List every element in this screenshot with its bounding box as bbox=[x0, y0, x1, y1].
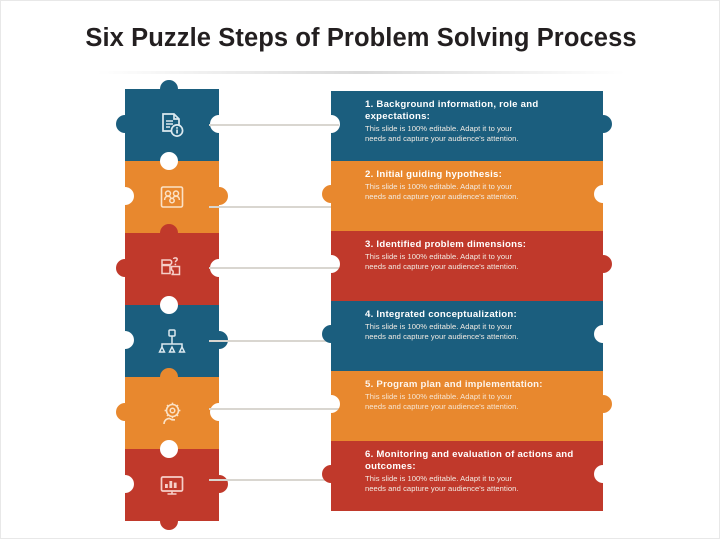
puzzle-piece-1[interactable] bbox=[125, 89, 219, 161]
puzzle-piece-5[interactable] bbox=[125, 377, 219, 449]
step-heading: 4. Integrated conceptualization: bbox=[365, 309, 577, 321]
step-panel-list: 1. Background information, role and expe… bbox=[331, 91, 611, 531]
connector-line-3 bbox=[209, 267, 339, 269]
slide-canvas: Six Puzzle Steps of Problem Solving Proc… bbox=[0, 0, 720, 539]
step-body: This slide is 100% editable. Adapt it to… bbox=[365, 474, 533, 494]
step-panel-4[interactable]: 4. Integrated conceptualization: This sl… bbox=[331, 301, 603, 371]
puzzle-piece-4[interactable] bbox=[125, 305, 219, 377]
title-divider bbox=[97, 71, 625, 74]
step-panel-6[interactable]: 6. Monitoring and evaluation of actions … bbox=[331, 441, 603, 511]
step-panel-3[interactable]: 3. Identified problem dimensions: This s… bbox=[331, 231, 603, 301]
step-panel-2[interactable]: 2. Initial guiding hypothesis: This slid… bbox=[331, 161, 603, 231]
step-heading: 1. Background information, role and expe… bbox=[365, 99, 577, 123]
puzzle-piece-6[interactable] bbox=[125, 449, 219, 521]
step-heading: 3. Identified problem dimensions: bbox=[365, 239, 577, 251]
step-body: This slide is 100% editable. Adapt it to… bbox=[365, 124, 533, 144]
step-panel-1[interactable]: 1. Background information, role and expe… bbox=[331, 91, 603, 161]
step-body: This slide is 100% editable. Adapt it to… bbox=[365, 322, 533, 342]
step-body: This slide is 100% editable. Adapt it to… bbox=[365, 182, 533, 202]
connector-line-1 bbox=[209, 124, 339, 126]
step-body: This slide is 100% editable. Adapt it to… bbox=[365, 252, 533, 272]
step-heading: 5. Program plan and implementation: bbox=[365, 379, 577, 391]
step-body: This slide is 100% editable. Adapt it to… bbox=[365, 392, 533, 412]
connector-line-5 bbox=[209, 408, 339, 410]
step-heading: 6. Monitoring and evaluation of actions … bbox=[365, 449, 577, 473]
left-puzzle-column bbox=[125, 89, 219, 529]
step-panel-5[interactable]: 5. Program plan and implementation: This… bbox=[331, 371, 603, 441]
puzzle-piece-3[interactable] bbox=[125, 233, 219, 305]
step-heading: 2. Initial guiding hypothesis: bbox=[365, 169, 577, 181]
puzzle-piece-2[interactable] bbox=[125, 161, 219, 233]
page-title: Six Puzzle Steps of Problem Solving Proc… bbox=[1, 24, 720, 53]
